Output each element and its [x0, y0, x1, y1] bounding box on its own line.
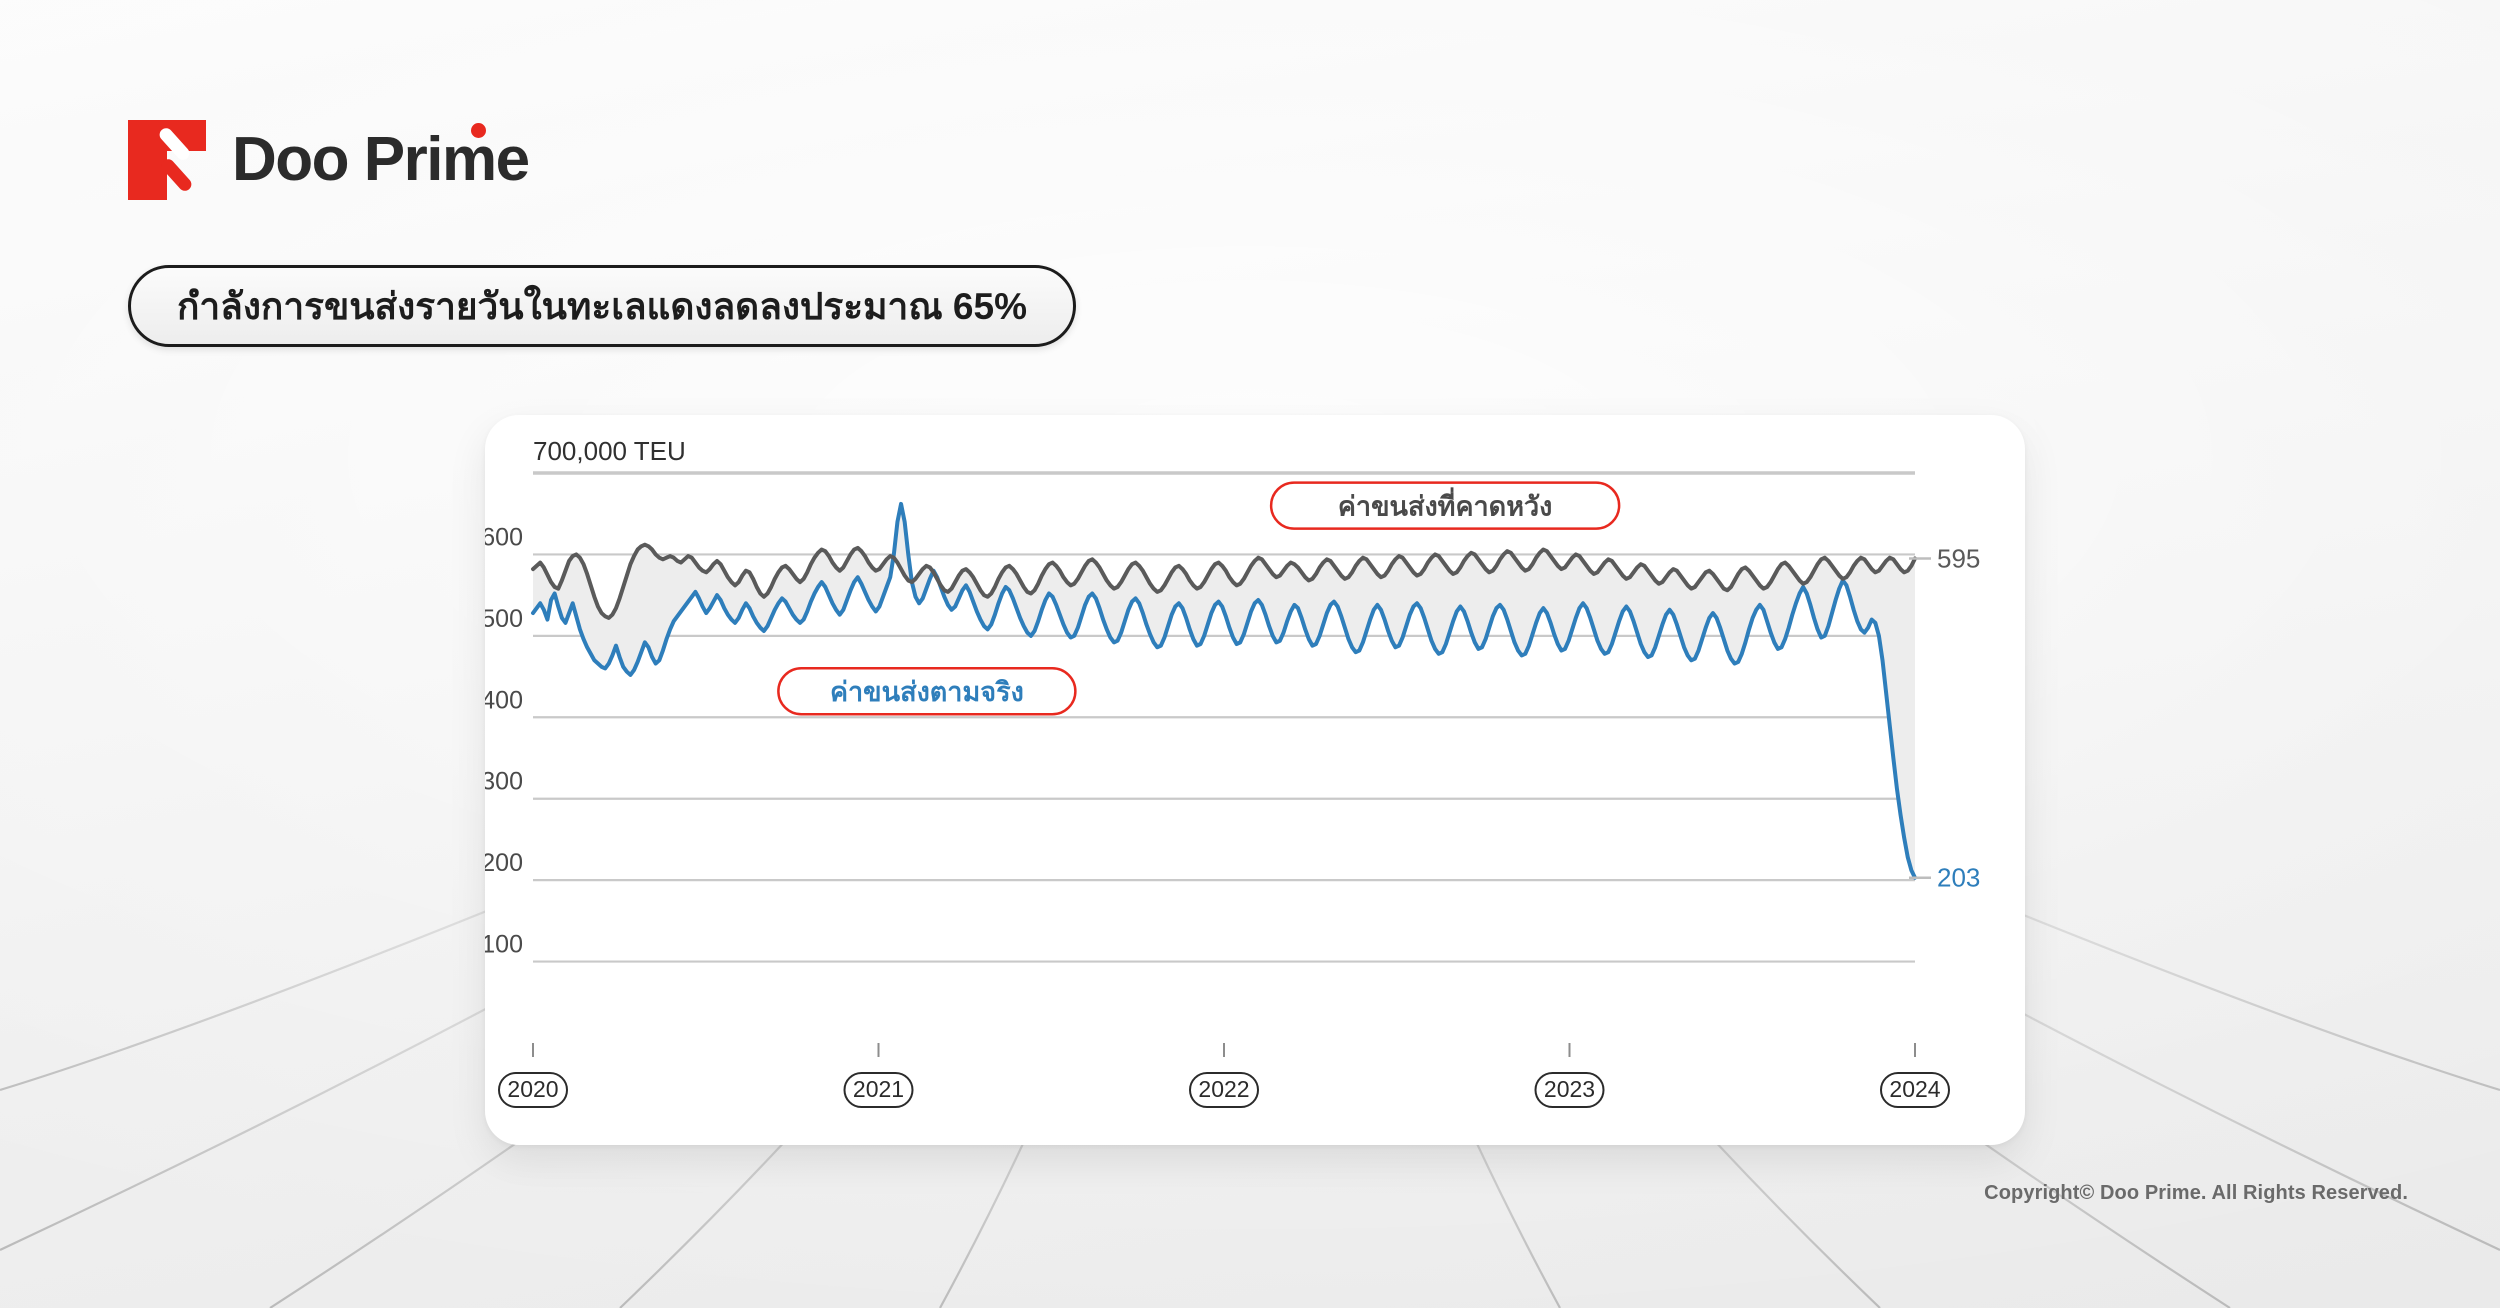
copyright-footer: Copyright© Doo Prime. All Rights Reserve…: [1984, 1182, 2408, 1205]
chart-y-axis-labels: 600500400300200100: [485, 523, 523, 958]
series-annotation-label: ค่าขนส่งที่คาดหวัง: [1338, 487, 1553, 522]
chart-x-axis-labels: 20202021202220232024: [499, 1043, 1949, 1107]
chart-end-value-labels: 595203: [1909, 544, 1980, 893]
y-tick-label: 500: [485, 605, 523, 633]
doo-prime-logo-icon: [128, 120, 206, 200]
end-value-label-actual: 203: [1937, 863, 1980, 893]
y-tick-label: 200: [485, 849, 523, 877]
y-tick-label: 400: [485, 686, 523, 714]
end-value-label-expected: 595: [1937, 544, 1980, 574]
x-tick-label: 2024: [1889, 1076, 1940, 1102]
y-tick-label: 300: [485, 768, 523, 796]
x-tick-label: 2023: [1544, 1076, 1595, 1102]
chart-gridlines: [533, 473, 1915, 962]
shipping-capacity-line-chart: 600500400300200100 20202021202220232024 …: [485, 415, 2025, 1145]
brand-name: Doo Prime: [232, 129, 529, 191]
series-annotation-label: ค่าขนส่งตามจริง: [830, 677, 1024, 707]
brand-logo: Doo Prime: [128, 120, 529, 200]
chart-card: 600500400300200100 20202021202220232024 …: [485, 415, 2025, 1145]
logo-dot-icon: [471, 123, 486, 138]
y-tick-label: 600: [485, 523, 523, 551]
x-tick-label: 2020: [507, 1076, 558, 1102]
x-tick-label: 2021: [853, 1076, 904, 1102]
chart-series-lines: [533, 504, 1915, 878]
y-tick-label: 100: [485, 931, 523, 959]
headline-text: กำลังการขนส่งรายวันในทะเลแดงลดลงประมาณ 6…: [177, 277, 1027, 336]
chart-unit-label: 700,000 TEU: [533, 436, 686, 466]
x-tick-label: 2022: [1198, 1076, 1249, 1102]
chart-gap-band: [533, 504, 1915, 878]
headline-pill: กำลังการขนส่งรายวันในทะเลแดงลดลงประมาณ 6…: [128, 265, 1076, 347]
